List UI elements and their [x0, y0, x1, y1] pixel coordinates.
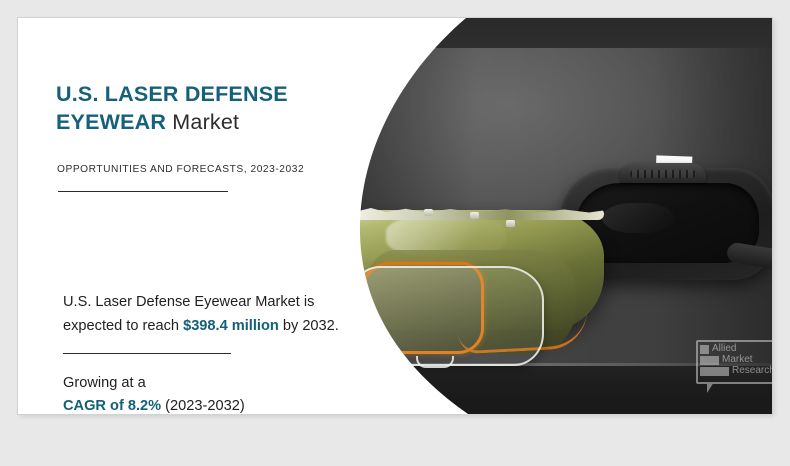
product-photo: Allied Market Research	[348, 18, 772, 414]
cagr-value: CAGR of 8.2%	[63, 398, 161, 414]
photo-top-band	[348, 18, 772, 48]
title-line-1: U.S. LASER DEFENSE	[56, 80, 336, 108]
market-size-value: $398.4 million	[183, 318, 279, 334]
divider-bottom	[63, 353, 231, 354]
page-subtitle: OPPORTUNITIES AND FORECASTS, 2023-2032	[57, 164, 304, 175]
allied-market-research-logo: Allied Market Research	[696, 340, 772, 392]
title-text-primary: U.S. LASER DEFENSE	[56, 82, 288, 106]
lens-notch	[470, 212, 479, 219]
goggles-vent	[620, 163, 706, 183]
page-title: U.S. LASER DEFENSE EYEWEAR Market	[56, 80, 336, 136]
text-panel: U.S. LASER DEFENSE EYEWEAR Market OPPORT…	[18, 18, 358, 414]
logo-text-allied: Allied	[712, 344, 736, 354]
clear-lens-bridge	[416, 356, 454, 368]
lens-notch	[506, 220, 515, 227]
cagr-lead: Growing at a	[63, 372, 353, 395]
logo-text-market: Market	[722, 355, 753, 365]
goggles-lens-sheen	[602, 203, 674, 233]
cagr-period: (2023-2032)	[161, 398, 245, 414]
title-text-market: Market	[172, 110, 239, 134]
laser-lens-stack	[348, 210, 608, 380]
divider-top	[58, 191, 228, 192]
logo-row-allied: Allied	[700, 344, 736, 354]
page-background: Allied Market Research U.S. LASER DEFENS	[0, 0, 790, 466]
logo-row-market: Market	[700, 355, 753, 365]
title-line-2: EYEWEAR Market	[56, 108, 336, 136]
logo-text-research: Research	[732, 366, 772, 376]
market-size-statement: U.S. Laser Defense Eyewear Market is exp…	[63, 290, 353, 338]
market-size-suffix: by 2032.	[279, 318, 339, 334]
logo-square-icon	[700, 345, 709, 354]
infographic-card: Allied Market Research U.S. LASER DEFENS	[18, 18, 772, 414]
logo-row-research: Research	[700, 366, 772, 376]
lens-notch	[424, 209, 433, 216]
cagr-statement: Growing at aCAGR of 8.2% (2023-2032)	[63, 372, 353, 414]
logo-square-icon	[700, 356, 719, 365]
clear-lens	[350, 266, 544, 366]
logo-square-icon	[700, 367, 729, 376]
title-text-secondary: EYEWEAR	[56, 110, 166, 134]
